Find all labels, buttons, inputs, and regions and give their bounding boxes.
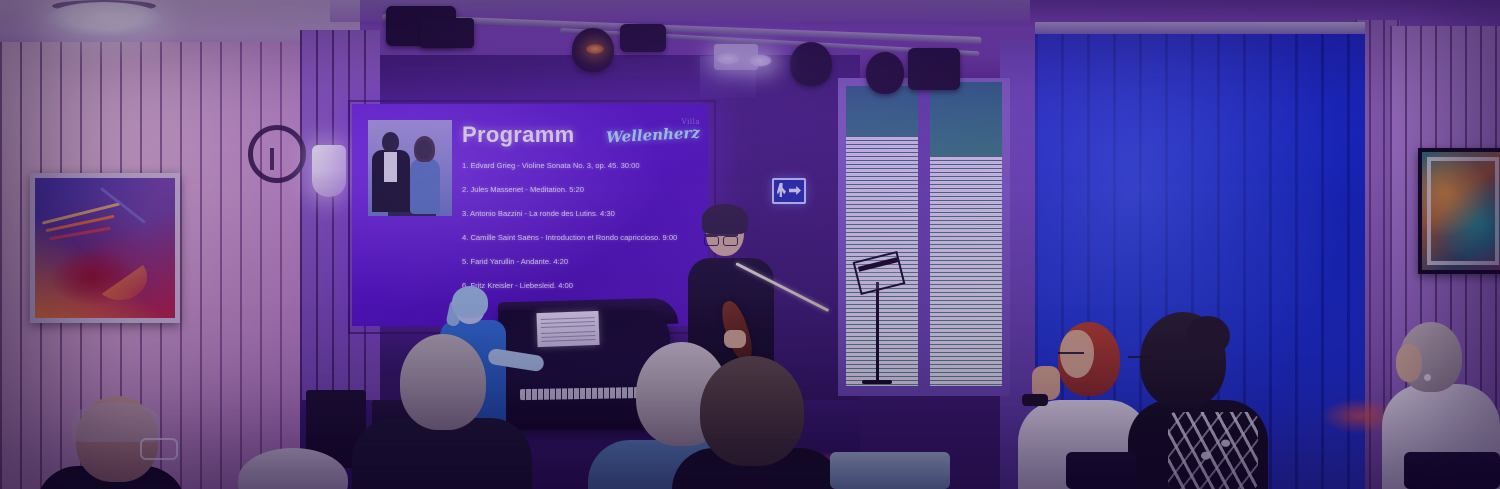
stage-light-fixture [790, 42, 832, 86]
hair [72, 402, 160, 442]
white-lamp-glow [716, 52, 740, 65]
slide-photo [368, 120, 452, 216]
chair[interactable] [830, 452, 950, 489]
presentation-slide: Programm Villa Wellenherz 1. Edvard Grie… [352, 104, 708, 326]
stage-light-fixture [908, 48, 960, 90]
program-item: 6. Fritz Kreisler - Liebesleid. 4:00 [462, 282, 700, 290]
logo-name-text: Wellenherz [606, 124, 701, 147]
artwork-left [30, 173, 180, 323]
exit-sign [772, 178, 806, 204]
ceiling-lamp [45, 2, 163, 36]
glasses-icon [1058, 352, 1084, 363]
music-stand-foot [862, 380, 892, 384]
chair[interactable] [1066, 452, 1136, 489]
curtain-rail [1035, 22, 1365, 34]
running-man-icon [777, 183, 786, 197]
sheet-music [536, 311, 599, 347]
circular-wall-decor [248, 125, 306, 183]
program-item: 3. Antonio Bazzini - La ronde des Lutins… [462, 210, 700, 218]
stage-light-fixture [620, 24, 666, 52]
glasses-icon [1128, 356, 1152, 367]
piano-keys [520, 387, 650, 400]
stage-light-fixture [866, 52, 904, 94]
white-lamp-glow [748, 54, 772, 67]
violinist-hand [724, 330, 746, 348]
chair[interactable] [1404, 452, 1500, 489]
arrow-right-icon [789, 186, 801, 195]
floral-pattern [1168, 412, 1258, 489]
violinist-glasses [704, 234, 738, 244]
slide-title: Programm [462, 122, 574, 148]
pianist-hair [452, 286, 488, 318]
window-right-pane [928, 82, 1002, 386]
artwork-right-mat [1427, 157, 1499, 265]
program-item: 1. Edvard Grieg - Violine Sonata No. 3, … [462, 162, 700, 170]
program-list: 1. Edvard Grieg - Violine Sonata No. 3, … [462, 162, 700, 307]
artwork-right [1418, 148, 1500, 274]
wall-sconce-lamp [312, 145, 346, 197]
violinist-hair [702, 204, 748, 234]
hair-bun [1186, 316, 1230, 356]
earring [1424, 374, 1431, 381]
face [1396, 344, 1422, 382]
wellenherz-logo: Villa Wellenherz [606, 118, 700, 144]
program-item: 4. Camille Saint Saëns - Introduction et… [462, 234, 700, 242]
circular-wall-decor-stem [270, 148, 274, 170]
concert-hall-photo: Programm Villa Wellenherz 1. Edvard Grie… [0, 0, 1500, 489]
music-stand-pole [876, 282, 879, 382]
glasses-icon [140, 438, 178, 460]
stage-light-fixture [420, 18, 474, 48]
program-item: 2. Jules Massenet - Meditation. 5:20 [462, 186, 700, 194]
program-item: 5. Farid Yarullin - Andante. 4:20 [462, 258, 700, 266]
window-mullion [918, 80, 930, 392]
window-blind-right[interactable] [928, 156, 1002, 386]
window-left-pane [846, 86, 920, 386]
wristwatch [1022, 394, 1048, 406]
warm-lamp-glow [586, 44, 604, 54]
